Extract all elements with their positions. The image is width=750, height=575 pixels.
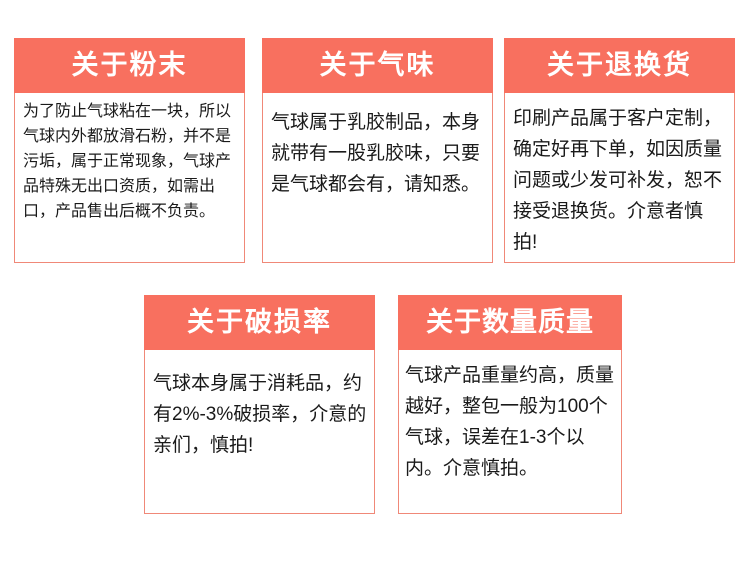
card-text-quantity: 气球产品重量约高，质量越好，整包一般为100个气球，误差在1-3个以内。介意慎拍… xyxy=(405,360,616,484)
card-text-returns: 印刷产品属于客户定制，确定好再下单，如因质量问题或少发可补发，恕不接受退换货。介… xyxy=(513,103,727,258)
info-card-quantity: 关于数量质量 气球产品重量约高，质量越好，整包一般为100个气球，误差在1-3个… xyxy=(398,295,622,514)
card-header-returns: 关于退换货 xyxy=(504,38,735,93)
card-text-smell: 气球属于乳胶制品，本身就带有一股乳胶味，只要是气球都会有，请知悉。 xyxy=(271,107,485,200)
card-header-smell: 关于气味 xyxy=(262,38,493,93)
card-body-breakage: 气球本身属于消耗品，约有2%-3%破损率，介意的亲们，慎拍! xyxy=(144,350,375,514)
card-text-breakage: 气球本身属于消耗品，约有2%-3%破损率，介意的亲们，慎拍! xyxy=(153,368,367,461)
card-header-powder: 关于粉末 xyxy=(14,38,245,93)
card-body-smell: 气球属于乳胶制品，本身就带有一股乳胶味，只要是气球都会有，请知悉。 xyxy=(262,93,493,263)
card-title-breakage: 关于破损率 xyxy=(187,309,332,336)
card-header-breakage: 关于破损率 xyxy=(144,295,375,350)
card-body-powder: 为了防止气球粘在一块，所以气球内外都放滑石粉，并不是污垢，属于正常现象，气球产品… xyxy=(14,93,245,263)
info-card-returns: 关于退换货 印刷产品属于客户定制，确定好再下单，如因质量问题或少发可补发，恕不接… xyxy=(504,38,735,263)
card-header-quantity: 关于数量质量 xyxy=(398,295,622,350)
card-title-smell: 关于气味 xyxy=(320,52,436,79)
card-title-powder: 关于粉末 xyxy=(72,52,188,79)
card-text-powder: 为了防止气球粘在一块，所以气球内外都放滑石粉，并不是污垢，属于正常现象，气球产品… xyxy=(23,99,237,224)
card-body-returns: 印刷产品属于客户定制，确定好再下单，如因质量问题或少发可补发，恕不接受退换货。介… xyxy=(504,93,735,263)
card-title-returns: 关于退换货 xyxy=(547,52,692,79)
info-cards-board: 关于粉末 为了防止气球粘在一块，所以气球内外都放滑石粉，并不是污垢，属于正常现象… xyxy=(0,0,750,575)
info-card-breakage: 关于破损率 气球本身属于消耗品，约有2%-3%破损率，介意的亲们，慎拍! xyxy=(144,295,375,514)
card-title-quantity: 关于数量质量 xyxy=(426,309,594,336)
info-card-smell: 关于气味 气球属于乳胶制品，本身就带有一股乳胶味，只要是气球都会有，请知悉。 xyxy=(262,38,493,263)
card-body-quantity: 气球产品重量约高，质量越好，整包一般为100个气球，误差在1-3个以内。介意慎拍… xyxy=(398,350,622,514)
info-card-powder: 关于粉末 为了防止气球粘在一块，所以气球内外都放滑石粉，并不是污垢，属于正常现象… xyxy=(14,38,245,263)
